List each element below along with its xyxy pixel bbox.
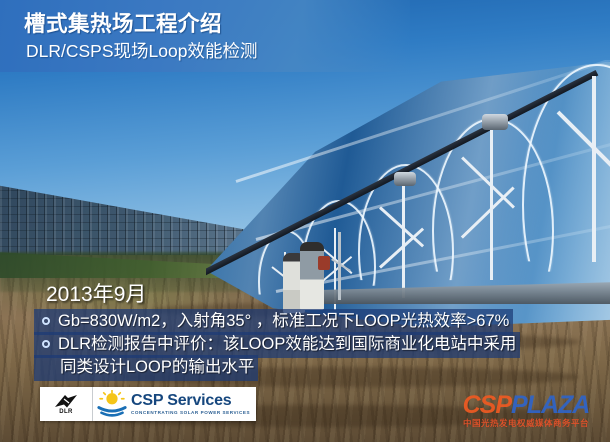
watermark-brand: CSPPLAZA [452,392,600,418]
csp-services-logo: CSP Services CONCENTRATING SOLAR POWER S… [93,387,256,421]
logo-bar: DLR CSP Services CONCENTRATING SOLAR POW… [40,387,256,421]
bullet-text: Gb=830W/m2，入射角35° ，标准工况下LOOP光热效率>67% [58,310,509,333]
receiver-hub [482,114,508,130]
dlr-logo-text: DLR [59,409,73,415]
csp-services-tagline: CONCENTRATING SOLAR POWER SERVICES [131,409,250,416]
dlr-eagle-icon [53,393,79,410]
bullet-text: DLR检测报告中评价：该LOOP效能达到国际商业化电站中采用 [58,333,516,356]
support-truss [402,184,405,298]
worker-figure [300,242,324,310]
watermark-tagline: 中国光热发电权威媒体商务平台 [452,417,600,429]
cspplaza-watermark: CSPPLAZA 中国光热发电权威媒体商务平台 [452,392,600,429]
watermark-brand-csp: CSP [463,391,511,419]
bullet-ring-icon [42,317,50,325]
csp-services-wordmark: CSP Services CONCENTRATING SOLAR POWER S… [131,392,250,416]
sun-over-water-icon [97,390,127,418]
worker-equipment [318,256,330,270]
support-truss [592,76,596,262]
date-label: 2013年9月 [46,278,146,308]
bullet-item-continuation: 同类设计LOOP的输出水平 [34,355,258,381]
watermark-brand-plaza: PLAZA [511,391,589,419]
page-title: 槽式集热场工程介绍 [24,7,222,38]
receiver-hub [394,172,416,186]
bullet-ring-icon [42,340,50,348]
dlr-logo: DLR [40,387,93,421]
slide-canvas: 槽式集热场工程介绍 DLR/CSPS现场Loop效能检测 2013年9月 Gb=… [0,0,610,442]
page-subtitle: DLR/CSPS现场Loop效能检测 [26,38,257,63]
csp-services-name: CSP Services [131,392,250,409]
bullet-text: 同类设计LOOP的输出水平 [60,356,254,379]
